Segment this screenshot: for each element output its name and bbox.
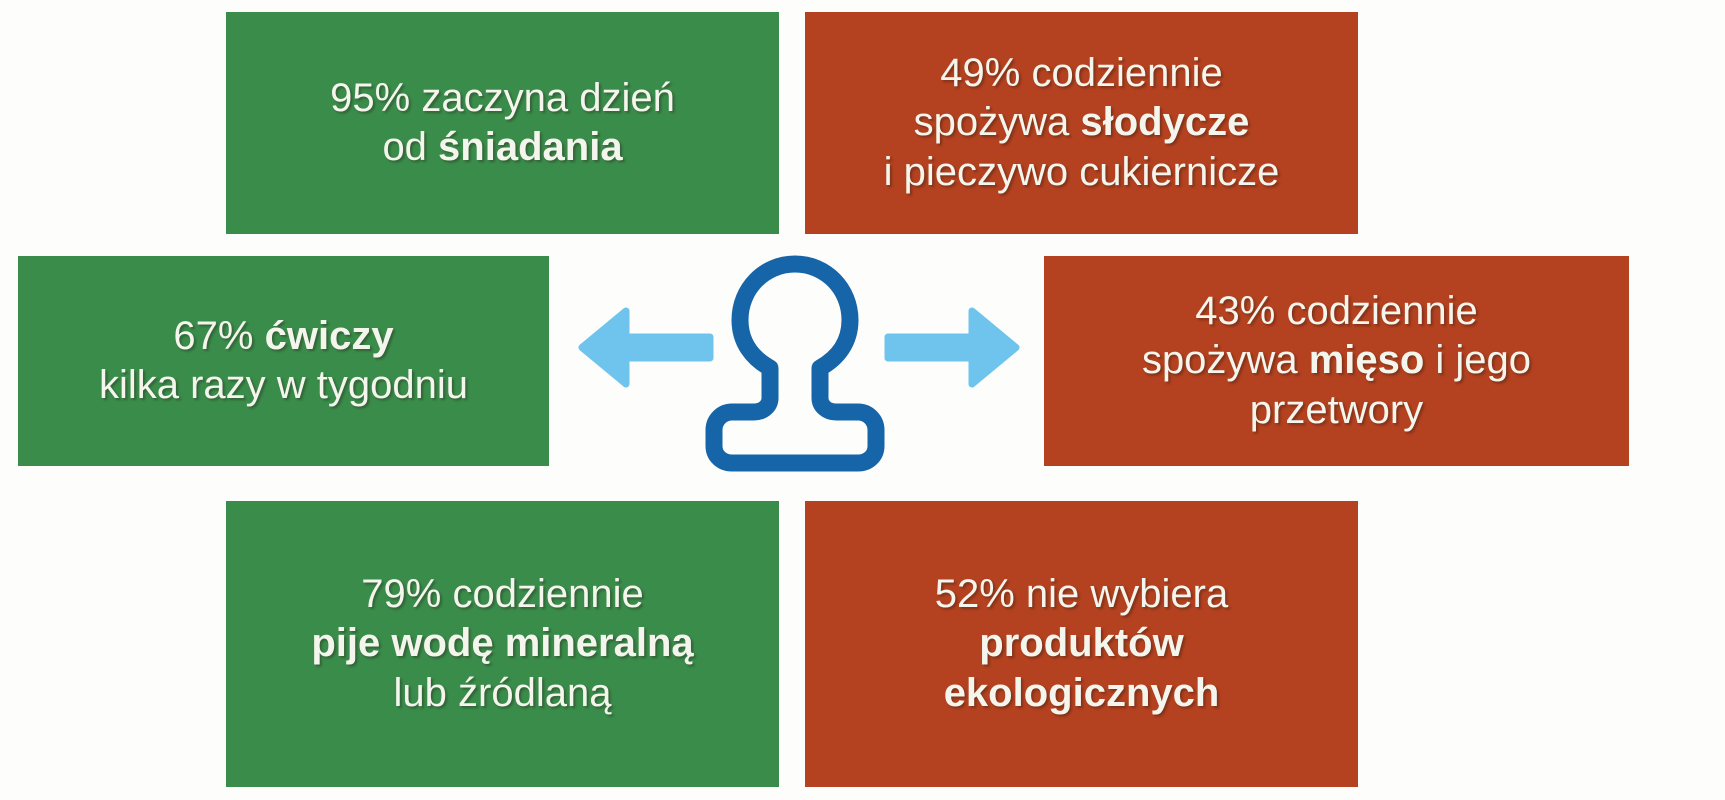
stat-box-exercise: 67% ćwiczy kilka razy w tygodniu — [18, 256, 549, 466]
stat-box-meat: 43% codziennie spożywa mięso i jego prze… — [1044, 256, 1629, 466]
stat-box-water: 79% codziennie pije wodę mineralną lub ź… — [226, 501, 779, 787]
stat-text-bold: śniadania — [438, 125, 623, 169]
stat-text-normal: 52% nie wybiera — [935, 572, 1229, 616]
stat-line: 67% ćwiczy — [173, 312, 393, 361]
stat-text-normal: 43% codziennie — [1195, 289, 1477, 333]
stat-box-sweets: 49% codziennie spożywa słodycze i pieczy… — [805, 12, 1358, 234]
stat-text-normal: 67% — [173, 314, 264, 358]
stat-text-normal: kilka razy w tygodniu — [99, 363, 468, 407]
stat-line: spożywa słodycze — [914, 98, 1250, 147]
stat-text-normal: spożywa — [914, 100, 1081, 144]
arrow-right-icon — [884, 295, 1024, 400]
stat-line: ekologicznych — [944, 669, 1220, 718]
stat-line: lub źródlaną — [394, 669, 612, 718]
stat-line: 43% codziennie — [1195, 287, 1477, 336]
stat-text-normal: od — [382, 125, 438, 169]
stat-text-normal: spożywa — [1142, 338, 1309, 382]
stat-text-bold: mięso — [1309, 338, 1425, 382]
stat-box-breakfast: 95% zaczyna dzień od śniadania — [226, 12, 779, 234]
stat-text-bold: ćwiczy — [265, 314, 394, 358]
arrow-left-icon — [574, 295, 714, 400]
stat-text-normal: i pieczywo cukiernicze — [884, 150, 1280, 194]
stat-line: kilka razy w tygodniu — [99, 361, 468, 410]
stat-line: 52% nie wybiera — [935, 570, 1229, 619]
stat-line: pije wodę mineralną — [311, 619, 693, 668]
person-icon — [700, 250, 890, 475]
stat-box-eco: 52% nie wybiera produktów ekologicznych — [805, 501, 1358, 787]
stat-text-normal: 79% codziennie — [361, 572, 643, 616]
stat-line: 79% codziennie — [361, 570, 643, 619]
stat-line: produktów — [979, 619, 1183, 668]
stat-line: spożywa mięso i jego — [1142, 336, 1531, 385]
stat-text-bold: ekologicznych — [944, 671, 1220, 715]
stat-text-bold: produktów — [979, 621, 1183, 665]
infographic-canvas: 95% zaczyna dzień od śniadania 49% codzi… — [0, 0, 1725, 800]
stat-text-normal: lub źródlaną — [394, 671, 612, 715]
stat-text-normal: 49% codziennie — [940, 51, 1222, 95]
stat-text-bold: słodycze — [1080, 100, 1249, 144]
stat-line: przetwory — [1250, 386, 1423, 435]
stat-line: 49% codziennie — [940, 49, 1222, 98]
stat-line: od śniadania — [382, 123, 622, 172]
stat-text-normal: i jego — [1424, 338, 1531, 382]
stat-line: 95% zaczyna dzień — [330, 74, 675, 123]
stat-text-normal: przetwory — [1250, 388, 1423, 432]
stat-text-normal: 95% zaczyna dzień — [330, 76, 675, 120]
stat-text-bold: pije wodę mineralną — [311, 621, 693, 665]
stat-line: i pieczywo cukiernicze — [884, 148, 1280, 197]
